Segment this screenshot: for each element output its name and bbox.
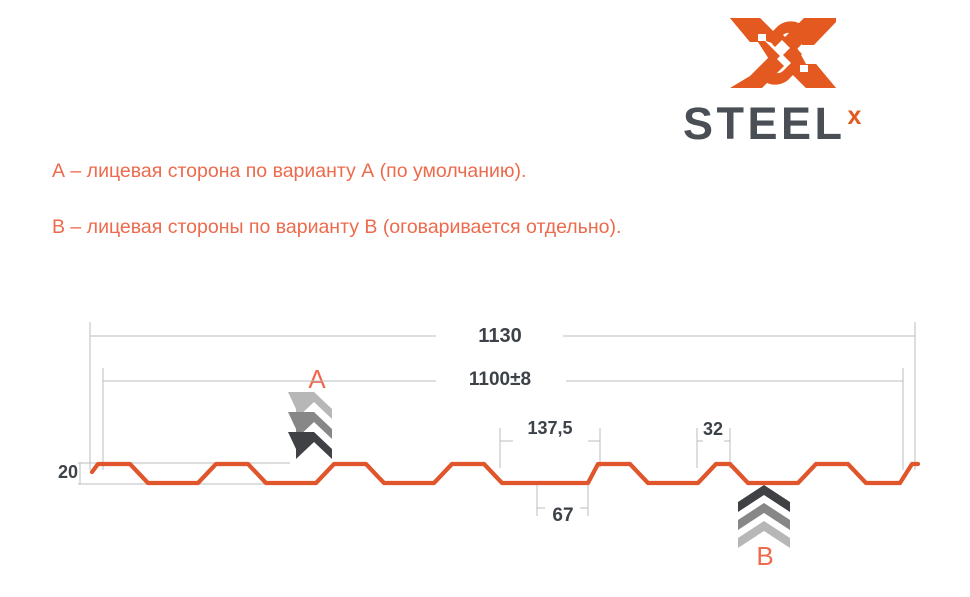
corrugated-profile-line <box>92 464 918 483</box>
marker-a-chevron-3 <box>288 432 332 459</box>
profile-technical-drawing <box>0 0 970 597</box>
marker-b-chevron-3 <box>738 521 790 548</box>
drawing-page: STEEL x А – лицевая сторона по варианту … <box>0 0 970 597</box>
marker-a-chevrons <box>288 392 332 459</box>
marker-b-chevrons <box>738 485 790 548</box>
